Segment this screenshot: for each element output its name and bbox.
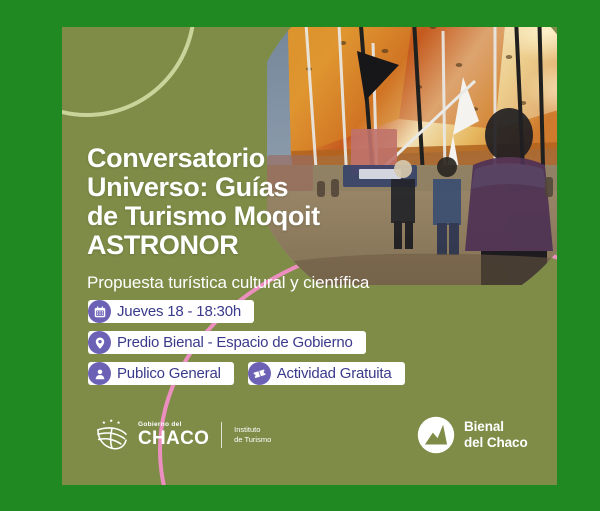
chip-row-audience-price: Publico General Actividad Gratuita xyxy=(88,362,518,385)
chip-date: Jueves 18 - 18:30h xyxy=(88,300,254,323)
chip-date-label: Jueves 18 - 18:30h xyxy=(117,303,241,320)
calendar-icon xyxy=(88,300,111,323)
chip-row-venue: Predio Bienal - Espacio de Gobierno xyxy=(88,331,518,354)
info-chips: Jueves 18 - 18:30h Predio Bienal - Espac… xyxy=(88,300,518,393)
person-icon xyxy=(88,362,111,385)
bienal-name: Bienal del Chaco xyxy=(464,419,528,450)
location-pin-icon xyxy=(88,331,111,354)
poster-subtitle: Propuesta turística cultural y científic… xyxy=(87,273,417,293)
chip-audience: Publico General xyxy=(88,362,234,385)
chaco-institute-label: Instituto de Turismo xyxy=(234,425,271,445)
ticket-icon xyxy=(248,362,271,385)
logo-gobierno-chaco: Gobierno del CHACO Instituto de Turismo xyxy=(94,418,271,452)
chip-price: Actividad Gratuita xyxy=(248,362,405,385)
logo-divider xyxy=(221,422,222,448)
footer-logos: Gobierno del CHACO Instituto de Turismo … xyxy=(62,412,557,472)
poster-text-block: Conversatorio Universo: Guías de Turismo… xyxy=(87,144,417,293)
bienal-mountain-icon xyxy=(417,416,455,454)
chaco-name: CHACO xyxy=(138,429,209,448)
chip-venue-label: Predio Bienal - Espacio de Gobierno xyxy=(117,334,353,351)
chip-row-date: Jueves 18 - 18:30h xyxy=(88,300,518,323)
chaco-leaf-stars-icon xyxy=(94,418,130,452)
chip-price-label: Actividad Gratuita xyxy=(277,365,392,382)
chip-audience-label: Publico General xyxy=(117,365,221,382)
decorative-arc-topleft xyxy=(62,27,196,117)
page-title: Conversatorio Universo: Guías de Turismo… xyxy=(87,144,417,261)
logo-bienal-chaco: Bienal del Chaco xyxy=(417,416,528,454)
poster-card: Conversatorio Universo: Guías de Turismo… xyxy=(62,27,557,485)
chip-venue: Predio Bienal - Espacio de Gobierno xyxy=(88,331,366,354)
chaco-wordmark: Gobierno del CHACO xyxy=(138,422,209,449)
